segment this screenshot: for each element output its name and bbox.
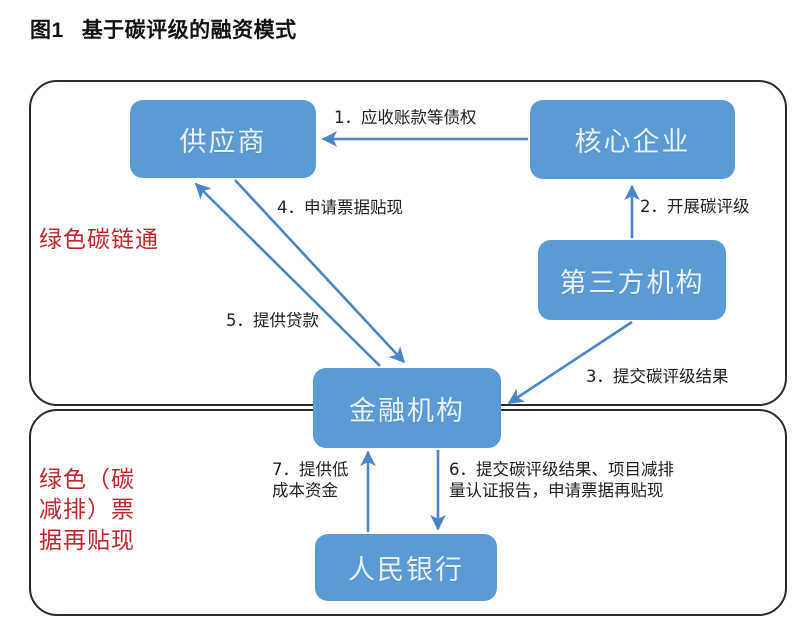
edge-label-6: 6．提交碳评级结果、项目减排 量认证报告，申请票据再贴现 [449, 459, 739, 502]
node-financial-institution-label: 金融机构 [349, 389, 465, 428]
edge-label-1: 1．应收账款等债权 [334, 107, 477, 128]
node-core-enterprise[interactable]: 核心企业 [530, 100, 735, 179]
edge-label-5: 5．提供贷款 [226, 310, 319, 331]
edge-label-2: 2．开展碳评级 [640, 196, 750, 217]
zone-label-green-bill-rediscount: 绿色（碳 减排）票 据再贴现 [39, 465, 179, 556]
page-title: 图1基于碳评级的融资模式 [30, 14, 297, 44]
figure-root: 图1基于碳评级的融资模式 供应商 核心企业 第三方机构 金融机构 [0, 0, 800, 639]
edge-label-7: 7．提供低 成本资金 [272, 459, 368, 502]
node-supplier-label: 供应商 [180, 120, 267, 159]
figure-title-text: 基于碳评级的融资模式 [82, 19, 297, 42]
node-third-party-agency[interactable]: 第三方机构 [538, 240, 726, 320]
node-peoples-bank-label: 人民银行 [348, 548, 464, 587]
edge-label-4: 4．申请票据贴现 [277, 197, 403, 218]
node-supplier[interactable]: 供应商 [130, 100, 316, 178]
edge-label-3: 3．提交碳评级结果 [586, 366, 729, 387]
node-financial-institution[interactable]: 金融机构 [313, 368, 501, 448]
node-peoples-bank[interactable]: 人民银行 [315, 534, 497, 601]
node-third-party-agency-label: 第三方机构 [560, 261, 705, 300]
zone-label-green-carbon-chain: 绿色碳链通 [39, 225, 159, 255]
figure-number: 图1 [30, 19, 64, 42]
node-core-enterprise-label: 核心企业 [575, 120, 691, 159]
